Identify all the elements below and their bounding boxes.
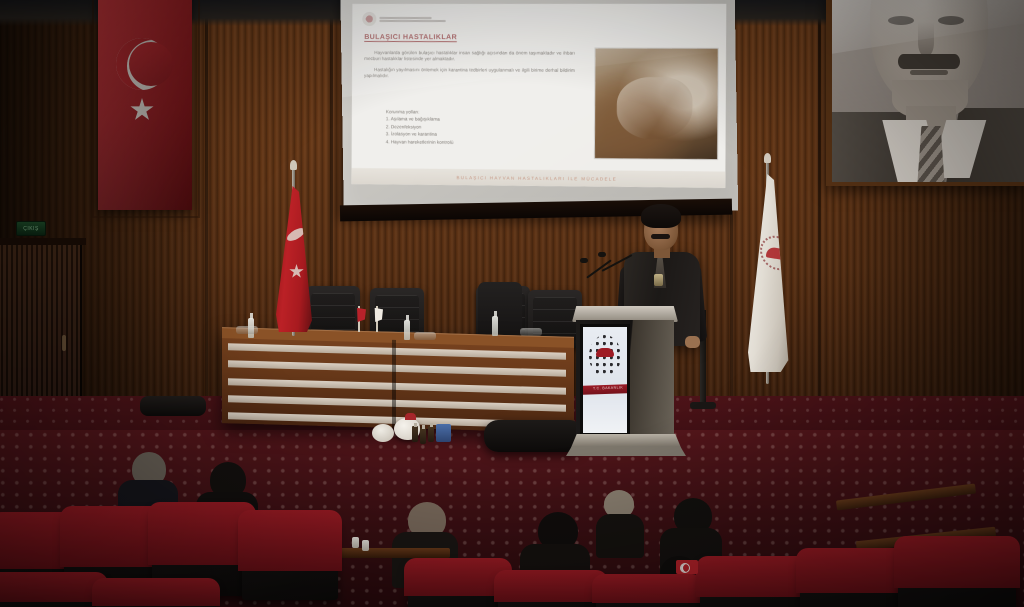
flag-finial-icon: [290, 160, 297, 170]
slide-organisation-text: [379, 16, 445, 21]
audience-seat[interactable]: [96, 582, 216, 607]
slide-organisation-logo: [362, 10, 483, 28]
wall-turkish-flag: [98, 0, 192, 210]
microphone-head-icon: [580, 258, 588, 263]
wall-panel-seam: [818, 0, 821, 430]
water-cup[interactable]: [352, 537, 359, 548]
slide-cow-photo: [595, 49, 718, 160]
audience-seat[interactable]: [700, 560, 806, 607]
slide-bullet-list: Korunma yolları: 1. Aşılama ve bağışıkla…: [386, 108, 538, 146]
lectern-plinth: [566, 446, 686, 456]
slide-footer-band: BULAŞICI HAYVAN HASTALIKLARI İLE MÜCADEL…: [351, 168, 725, 188]
audience-torso: [596, 514, 644, 558]
water-bottle[interactable]: [404, 320, 410, 340]
audience-seat[interactable]: [498, 574, 604, 607]
slide-paragraph-1: Hayvanlarda görülen bulaşıcı hastalıklar…: [364, 50, 575, 63]
sample-vial[interactable]: [428, 426, 434, 442]
flag-cloth: [748, 174, 790, 372]
presenter-hair: [641, 204, 681, 228]
floor-institution-flag: [740, 166, 796, 386]
audience-seat[interactable]: [242, 514, 338, 600]
slide-footer-text: BULAŞICI HAYVAN HASTALIKLARI İLE MÜCADEL…: [456, 175, 617, 182]
presentation-slide: BULAŞICI HASTALIKLAR Hayvanlarda görülen…: [351, 4, 726, 188]
exit-sign: ÇIKIŞ: [16, 221, 46, 236]
desk-turkish-flag: [352, 306, 366, 332]
portrait-mouth: [910, 70, 948, 75]
audience-seat[interactable]: [408, 562, 508, 607]
desk-institution-flag: [370, 306, 384, 332]
slide-paragraph-2: Hastalığın yayılmasını önlemek için kara…: [364, 67, 575, 81]
flag-finial-icon: [764, 153, 771, 163]
audience-writing-desk: [340, 548, 450, 558]
drinking-glasses[interactable]: [414, 332, 436, 340]
drinking-glasses[interactable]: [236, 326, 258, 334]
audience-seat[interactable]: [0, 576, 104, 607]
blue-container[interactable]: [436, 424, 451, 442]
water-bottle[interactable]: [492, 316, 498, 336]
slide-list-item: 4. Hayvan hareketlerinin kontrolü: [386, 138, 538, 147]
desk-flag-cloth: [370, 308, 383, 322]
poultry-display-secondary: [372, 424, 394, 442]
microphone-head-icon: [598, 252, 606, 257]
audience-seat[interactable]: [800, 552, 908, 607]
audience-member: [596, 490, 644, 548]
conference-hall-photo: ÇIKIŞ: [0, 0, 1024, 607]
floor-turkish-flag: [272, 176, 316, 332]
drinking-glasses[interactable]: [520, 328, 542, 336]
presenter-badge: [654, 274, 663, 286]
star-icon: [130, 98, 154, 122]
water-cup[interactable]: [362, 540, 369, 551]
portrait-eye-right: [938, 16, 964, 25]
exit-sign-label: ÇIKIŞ: [23, 226, 39, 232]
equipment-bag[interactable]: [140, 396, 206, 416]
crescent-icon: [116, 38, 168, 90]
sample-vial[interactable]: [420, 428, 426, 444]
lectern-logo-panel: T.C. BAKANLIK: [583, 327, 627, 433]
poultry-display: [390, 412, 424, 442]
portrait-eye-left: [888, 16, 914, 25]
portrait-moustache: [898, 54, 960, 69]
stage-monitor-base: [690, 402, 716, 409]
audience-seat[interactable]: [898, 540, 1016, 607]
projection-screen: BULAŞICI HASTALIKLAR Hayvanlarda görülen…: [340, 0, 738, 214]
door-handle[interactable]: [62, 335, 66, 351]
desk-flag-cloth: [352, 308, 366, 322]
flag-cloth: [276, 186, 312, 332]
turkish-flag-patch-icon: [676, 560, 698, 574]
poultry-comb-icon: [405, 413, 416, 420]
slide-title: BULAŞICI HASTALIKLAR: [364, 34, 457, 42]
slide-body-text: Hayvanlarda görülen bulaşıcı hastalıklar…: [364, 50, 575, 85]
ataturk-portrait: [832, 0, 1024, 182]
door-lintel: [0, 238, 86, 245]
presenter-hand-right: [685, 336, 700, 348]
presenter-moustache: [651, 234, 670, 239]
lectern: T.C. BAKANLIK: [576, 306, 674, 456]
lectern-emblem-icon: [589, 335, 621, 377]
crescent-icon: [286, 225, 306, 243]
audience-seat[interactable]: [596, 578, 700, 607]
ataturk-portrait-frame: [826, 0, 1024, 186]
sample-vial[interactable]: [412, 426, 418, 442]
star-icon: [289, 264, 304, 279]
institution-emblem-icon: [760, 233, 794, 272]
ministry-crest-icon: [362, 12, 376, 26]
speaker-case[interactable]: [484, 420, 580, 452]
portrait-nose: [918, 22, 934, 56]
